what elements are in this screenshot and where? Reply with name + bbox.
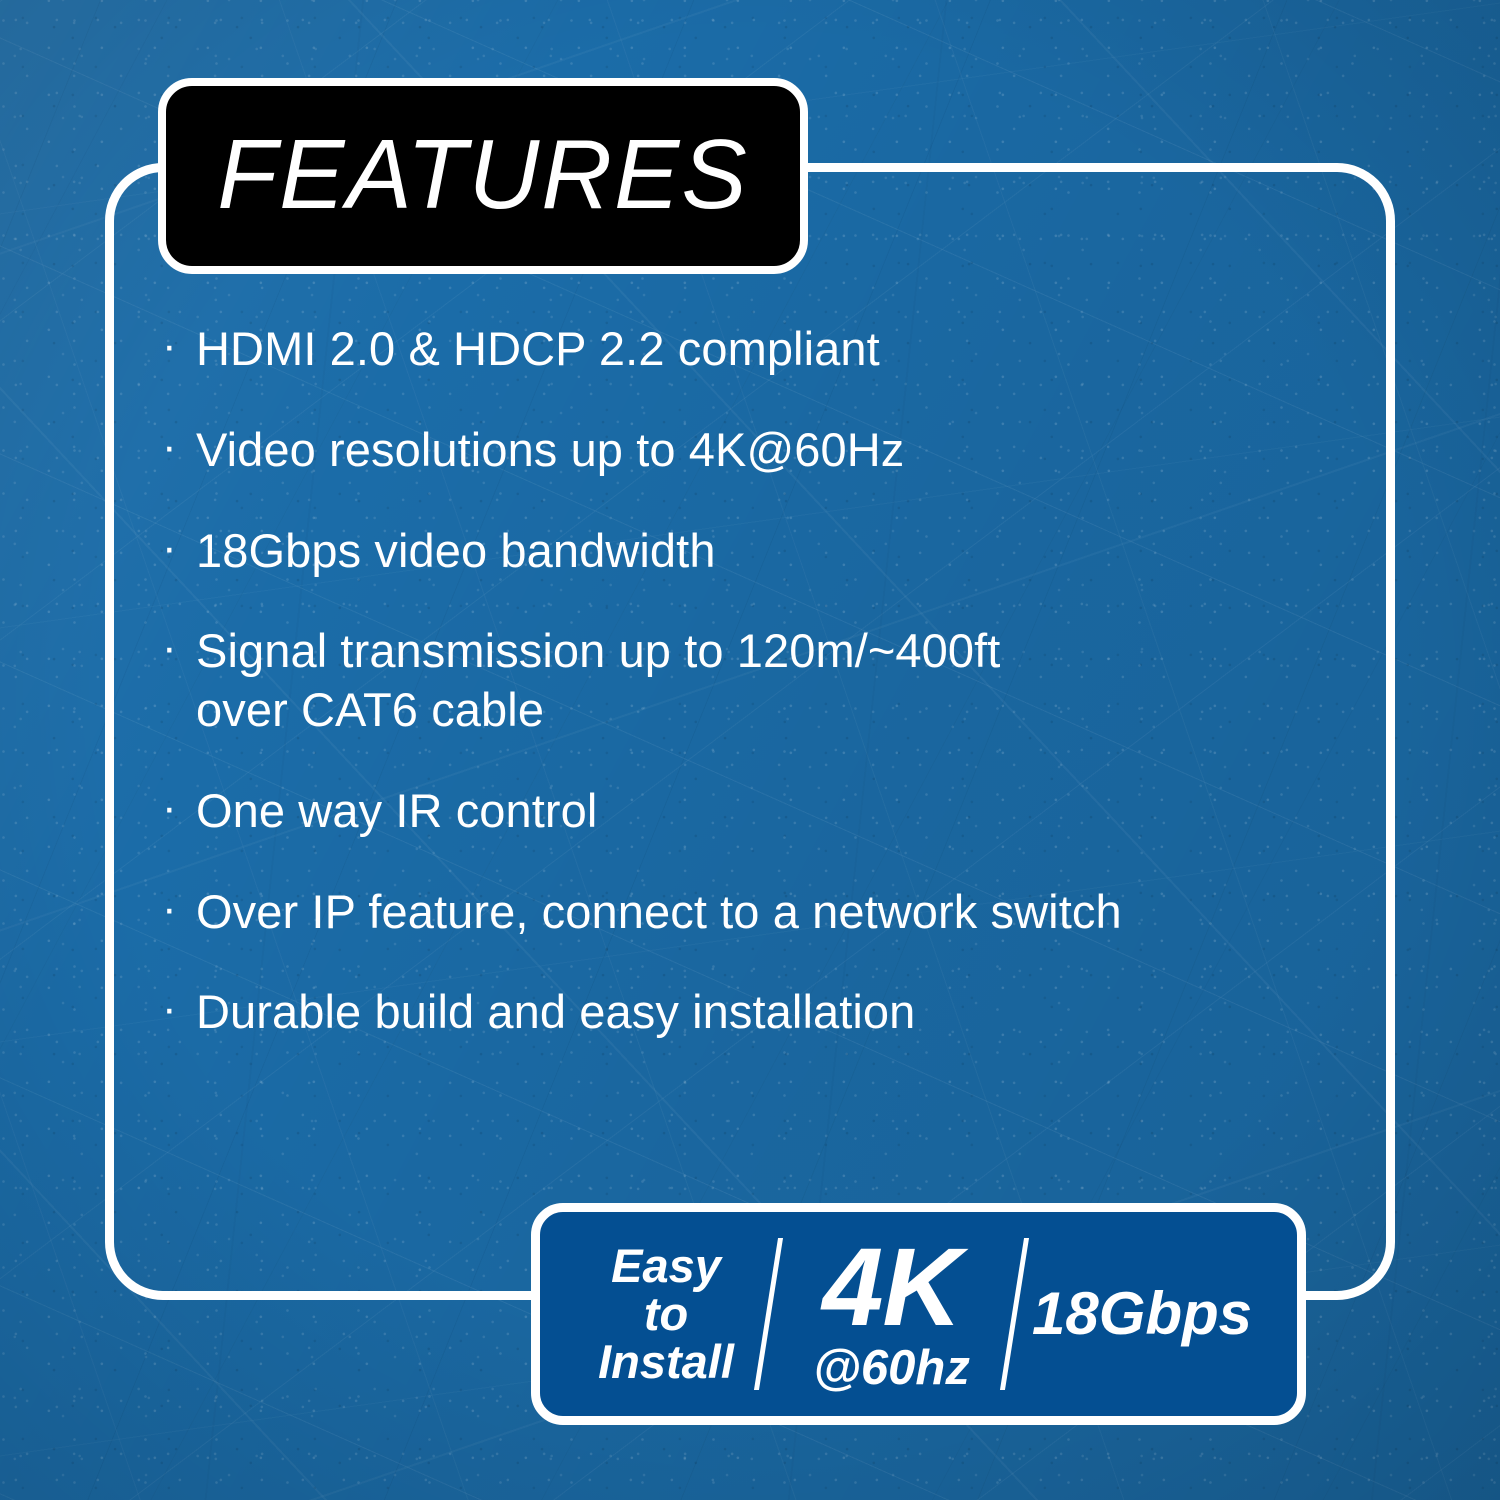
feature-label: Over IP feature, connect to a network sw…: [196, 883, 1362, 942]
feature-label: Signal transmission up to 120m/~400ft ov…: [196, 622, 1362, 740]
spec-badge: Easy to Install 4K @60hz 18Gbps: [531, 1203, 1306, 1425]
list-item: · Over IP feature, connect to a network …: [162, 883, 1362, 942]
spec-easy-line3: Install: [598, 1338, 734, 1386]
feature-label: HDMI 2.0 & HDCP 2.2 compliant: [196, 320, 1362, 379]
spec-bandwidth: 18Gbps: [1017, 1283, 1267, 1344]
list-item: · 18Gbps video bandwidth: [162, 522, 1362, 581]
spec-easy-install: Easy to Install: [566, 1242, 766, 1386]
bullet-icon: ·: [162, 320, 196, 372]
spec-easy-line1: Easy: [611, 1242, 721, 1290]
spec-resolution-refresh: @60hz: [813, 1344, 970, 1394]
feature-label: Video resolutions up to 4K@60Hz: [196, 421, 1362, 480]
feature-label: Durable build and easy installation: [196, 983, 1362, 1042]
spec-resolution: 4K @60hz: [772, 1234, 1012, 1394]
list-item: · Video resolutions up to 4K@60Hz: [162, 421, 1362, 480]
bullet-icon: ·: [162, 782, 196, 834]
list-item: · One way IR control: [162, 782, 1362, 841]
features-title-plate: FEATURES: [158, 78, 808, 274]
bullet-icon: ·: [162, 421, 196, 473]
feature-label: One way IR control: [196, 782, 1362, 841]
page-title: FEATURES: [217, 125, 748, 223]
bullet-icon: ·: [162, 883, 196, 935]
feature-label: 18Gbps video bandwidth: [196, 522, 1362, 581]
list-item: · HDMI 2.0 & HDCP 2.2 compliant: [162, 320, 1362, 379]
feature-poster: FEATURES · HDMI 2.0 & HDCP 2.2 compliant…: [0, 0, 1500, 1500]
list-item: · Durable build and easy installation: [162, 983, 1362, 1042]
list-item: · Signal transmission up to 120m/~400ft …: [162, 622, 1362, 740]
bullet-icon: ·: [162, 522, 196, 574]
spec-resolution-value: 4K: [822, 1234, 961, 1342]
bullet-icon: ·: [162, 622, 196, 674]
spec-easy-line2: to: [644, 1290, 688, 1338]
feature-bullet-list: · HDMI 2.0 & HDCP 2.2 compliant · Video …: [162, 320, 1362, 1084]
spec-bandwidth-value: 18Gbps: [1032, 1283, 1252, 1344]
bullet-icon: ·: [162, 983, 196, 1035]
